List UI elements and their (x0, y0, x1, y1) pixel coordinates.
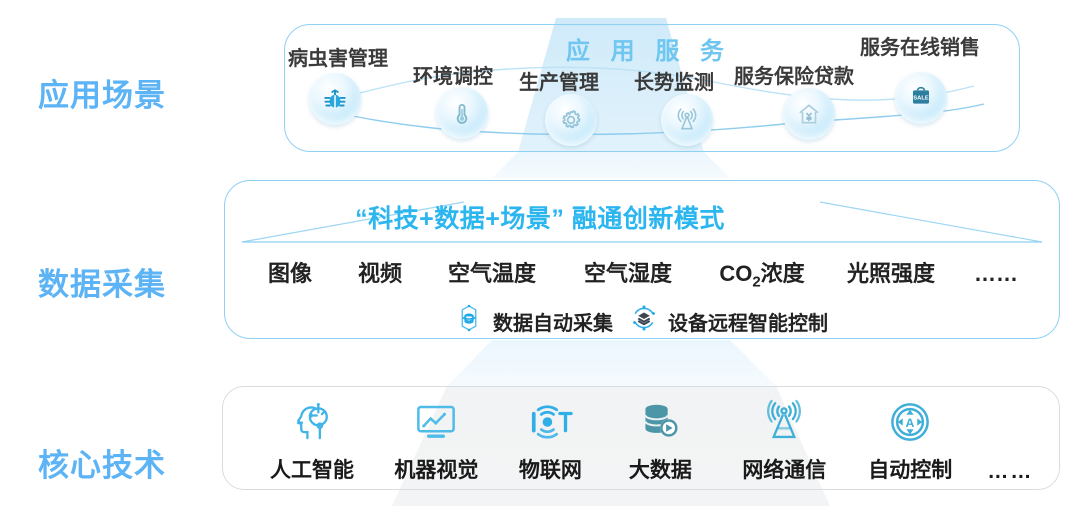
data-item-list: 图像 视频 空气温度 空气湿度 CO2浓度 光照强度 …… (246, 256, 1046, 290)
house-yuan-icon[interactable] (783, 88, 835, 140)
core-item-auto-control[interactable]: A 自动控制 (850, 396, 971, 484)
database-hex-icon (454, 303, 484, 339)
node-label-production: 生产管理 (519, 66, 599, 95)
gear-icon[interactable] (545, 94, 597, 146)
infographic-canvas: 应用场景 数据采集 核心技术 应 用 服 务 病虫害管理 环境调控 生产管理 (0, 0, 1080, 512)
node-label-online-sales: 服务在线销售 (860, 31, 980, 60)
data-item-air-humidity: 空气湿度 (558, 256, 698, 288)
monitor-chart-icon (413, 396, 459, 448)
svg-text:SALE: SALE (913, 95, 929, 101)
svg-text:A: A (906, 416, 915, 430)
data-capability-list: 数据自动采集 设备远程智能控制 (246, 303, 1036, 339)
data-panel-title: “科技+数据+场景” 融通创新模式 (0, 199, 1080, 235)
data-item-air-temperature: 空气温度 (426, 256, 558, 288)
core-item-list: 人工智能 机器视觉 (250, 396, 1050, 484)
thermometer-icon[interactable] (436, 87, 488, 139)
node-label-pest: 病虫害管理 (288, 42, 388, 71)
bug-icon[interactable] (309, 73, 361, 125)
big-data-icon (637, 396, 683, 448)
core-trailing-dots: …… (987, 460, 1033, 484)
core-item-network[interactable]: 网络通信 (719, 396, 850, 484)
core-item-big-data-label: 大数据 (629, 454, 692, 484)
auto-control-icon: A (887, 396, 933, 448)
application-center-title: 应 用 服 务 (566, 31, 731, 66)
sale-tag-icon[interactable]: SALE (895, 72, 947, 124)
core-item-iot-label: 物联网 (519, 454, 582, 484)
core-item-machine-vision-label: 机器视觉 (394, 454, 478, 484)
capability-auto-collection: 数据自动采集 (454, 303, 613, 339)
node-label-insurance-loan: 服务保险贷款 (734, 60, 854, 89)
core-item-network-label: 网络通信 (742, 454, 826, 484)
capability-remote-control: 设备远程智能控制 (629, 303, 828, 339)
data-item-light-intensity: 光照强度 (826, 256, 956, 288)
signal-tower-icon[interactable] (661, 94, 713, 146)
capability-remote-control-label: 设备远程智能控制 (668, 307, 828, 336)
layers-orbit-icon (629, 303, 659, 339)
node-label-growth: 长势监测 (634, 66, 714, 95)
data-item-image: 图像 (246, 256, 334, 288)
core-item-ellipsis: …… (971, 408, 1050, 484)
ai-head-icon (289, 396, 335, 448)
data-item-video: 视频 (334, 256, 426, 288)
row-label-data: 数据采集 (38, 259, 166, 304)
core-item-machine-vision[interactable]: 机器视觉 (374, 396, 499, 484)
capability-auto-collection-label: 数据自动采集 (493, 307, 613, 336)
row-label-core: 核心技术 (38, 440, 166, 485)
antenna-signal-icon (761, 396, 807, 448)
data-item-ellipsis: …… (956, 261, 1036, 287)
core-item-iot[interactable]: 物联网 (499, 396, 602, 484)
core-item-big-data[interactable]: 大数据 (602, 396, 719, 484)
row-label-application: 应用场景 (38, 70, 166, 115)
core-item-auto-control-label: 自动控制 (868, 454, 952, 484)
core-item-ai-label: 人工智能 (270, 454, 354, 484)
node-label-environment: 环境调控 (413, 60, 493, 89)
iot-icon (526, 396, 574, 448)
data-item-co2-concentration: CO2浓度 (698, 256, 826, 290)
core-item-ai[interactable]: 人工智能 (250, 396, 374, 484)
